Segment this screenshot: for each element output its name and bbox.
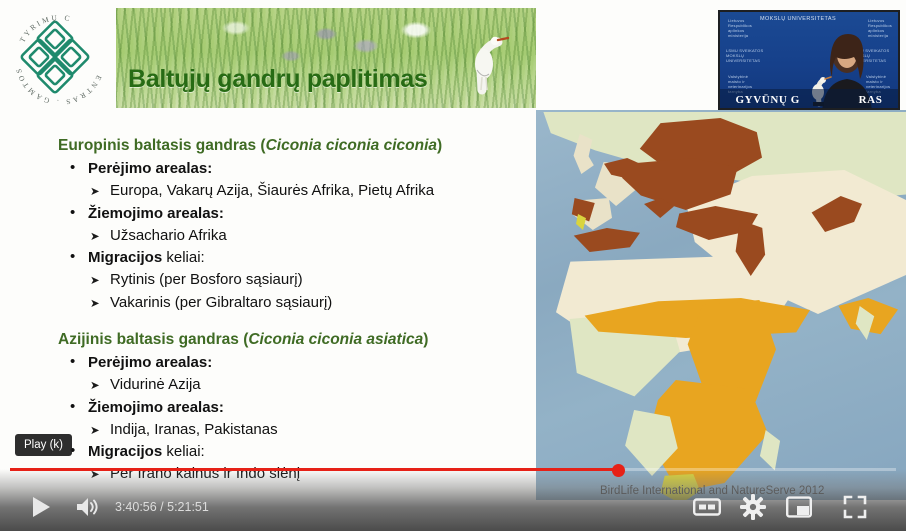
play-button-tooltip: Play (k) — [15, 434, 72, 456]
subbullet-migration-eu-1: Rytinis (per Bosforo sąsiaurį) — [58, 269, 538, 292]
bullet-migration-eu: Migracijos keliai: — [58, 247, 538, 269]
stork-distribution-map: Delfi Baltojo gandro paplitimas Perimvie… — [536, 110, 906, 500]
fullscreen-icon — [843, 495, 867, 519]
subbullet-breeding-eu-1: Europa, Vakarų Azija, Šiaurės Afrika, Pi… — [58, 180, 538, 203]
bullet-label-migration-eu: Migracijos — [88, 249, 162, 266]
miniplayer-icon — [786, 496, 812, 518]
heading-tail-european: ) — [437, 137, 442, 154]
subbullet-migration-eu-2: Vakarinis (per Gibraltaro sąsiaurį) — [58, 292, 538, 315]
slide-body-text: Europinis baltasis gandras (Ciconia cico… — [58, 136, 538, 486]
progress-played — [10, 468, 620, 471]
speaker-video-overlay: MOKSLŲ UNIVERSITETAS Lietuvos Respubliko… — [718, 10, 900, 110]
pip-backdrop-label-top: MOKSLŲ UNIVERSITETAS — [760, 16, 836, 22]
volume-icon — [75, 496, 99, 518]
fullscreen-button[interactable] — [832, 483, 878, 531]
heading-italic-european: Ciconia ciconia ciconia — [266, 137, 437, 154]
youtube-video-player[interactable]: TYRIMŲ C ENTRAS . GAMTOS Baltųjų gandrų … — [0, 0, 906, 531]
volume-button[interactable] — [64, 483, 110, 531]
gear-icon — [740, 494, 766, 520]
bullet-wintering-area-as: Žiemojimo arealas: — [58, 397, 538, 419]
subtitles-button[interactable] — [684, 483, 730, 531]
progress-scrubber-handle[interactable] — [612, 464, 625, 477]
play-button[interactable] — [18, 483, 64, 531]
pip-caption-left: GYVŪNŲ G — [736, 94, 800, 106]
pip-caption-right: RAS — [859, 94, 883, 106]
bullet-label-breeding-as: Perėjimo arealas: — [88, 354, 212, 371]
banner-title: Baltųjų gandrų paplitimas — [128, 65, 427, 94]
heading-plain-european: Europinis baltasis gandras ( — [58, 137, 266, 154]
stork-illustration — [462, 20, 508, 96]
bullet-label-migration-as: Migracijos — [88, 443, 162, 460]
section-heading-asian: Azijinis baltasis gandras (Ciconia cicon… — [58, 330, 538, 350]
bullet-wintering-area-eu: Žiemojimo arealas: — [58, 203, 538, 225]
pip-backdrop-label-tl: Lietuvos Respublikos aplinkos ministerij… — [728, 18, 754, 38]
bullet-rest-migration-as: keliai: — [162, 443, 205, 460]
gamtos-tyrimu-centras-logo: TYRIMŲ C ENTRAS . GAMTOS — [4, 4, 116, 116]
section-heading-european: Europinis baltasis gandras (Ciconia cico… — [58, 136, 538, 156]
play-icon — [31, 496, 51, 518]
closed-captions-icon — [693, 497, 721, 517]
subbullet-wintering-as-1: Indija, Iranas, Pakistanas — [58, 419, 538, 442]
heading-tail-asian: ) — [423, 331, 428, 348]
section-spacer — [58, 314, 538, 330]
pip-caption-text: GYVŪNŲ G RAS — [720, 94, 898, 106]
progress-bar[interactable] — [0, 467, 906, 472]
subbullet-wintering-eu-1: Užsachario Afrika — [58, 225, 538, 248]
miniplayer-button[interactable] — [776, 483, 822, 531]
time-display: 3:40:56 / 5:21:51 — [115, 483, 209, 531]
bullet-label-wintering-eu: Žiemojimo arealas: — [88, 205, 224, 222]
bullet-migration-as: Migracijos keliai: — [58, 441, 538, 463]
heading-plain-asian: Azijinis baltasis gandras ( — [58, 331, 248, 348]
heading-italic-asian: Ciconia ciconia asiatica — [248, 331, 423, 348]
slide-banner-image: Baltųjų gandrų paplitimas — [116, 8, 536, 108]
svg-text:ENTRAS . GAMTOS: ENTRAS . GAMTOS — [13, 66, 103, 108]
bullet-label-breeding-eu: Perėjimo arealas: — [88, 160, 212, 177]
settings-button[interactable] — [730, 483, 776, 531]
bullet-breeding-area-as: Perėjimo arealas: — [58, 352, 538, 374]
bullet-label-wintering-as: Žiemojimo arealas: — [88, 399, 224, 416]
subbullet-breeding-as-1: Vidurinė Azija — [58, 374, 538, 397]
pip-backdrop-label-ml: LSMU SVEIKATOS MOKSLŲ UNIVERSITETAS — [726, 48, 768, 63]
bullet-breeding-area-eu: Perėjimo arealas: — [58, 158, 538, 180]
bullet-rest-migration-eu: keliai: — [162, 249, 205, 266]
